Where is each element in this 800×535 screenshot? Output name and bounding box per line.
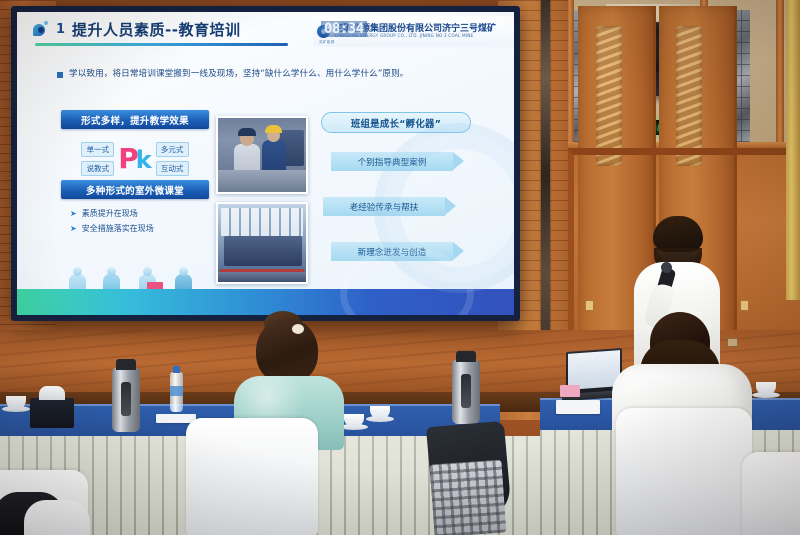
band-bottom-label: 多种形式的室外微课堂 bbox=[61, 180, 209, 199]
chevron-right-icon: ➤ bbox=[70, 209, 77, 218]
thermos-flask[interactable] bbox=[452, 360, 480, 424]
chevron-right-icon: ➤ bbox=[70, 224, 77, 233]
right-column-heading: 班组是成长“孵化器” bbox=[321, 112, 471, 133]
wall-frame-right bbox=[776, 0, 784, 150]
pk-chip-left-1: 单一式 bbox=[81, 142, 114, 157]
attendee-head bbox=[256, 318, 318, 384]
company-sub-cn: 兖矿能源 bbox=[319, 40, 335, 45]
projection-screen: 1 提升人员素质--教育培训 兖矿能源集团股份有限公司济宁三号煤矿 YANKUA… bbox=[11, 6, 520, 321]
slide-left-column: 形式多样，提升教学效果 单一式 说教式 P k 多元式 互动式 多种 bbox=[61, 110, 209, 238]
pk-letter-k: k bbox=[136, 148, 152, 172]
pk-chip-right-2: 互动式 bbox=[156, 161, 189, 176]
chair-back[interactable] bbox=[742, 452, 800, 535]
tissue-box[interactable] bbox=[30, 398, 74, 428]
chair-back[interactable] bbox=[186, 418, 318, 535]
camera-timestamp: 08:34 bbox=[321, 21, 367, 37]
slide-right-column: 班组是成长“孵化器” 个别指导典型案例 老经验传承与帮扶 新理念迸发与创造 bbox=[321, 112, 471, 261]
door-carving-right bbox=[676, 26, 702, 166]
photo-equipment-room bbox=[216, 202, 308, 284]
water-bottle[interactable] bbox=[170, 372, 183, 412]
pk-chip-right-1: 多元式 bbox=[156, 142, 189, 157]
pk-comparison-graphic: 单一式 说教式 P k 多元式 互动式 bbox=[61, 138, 209, 180]
title-underline bbox=[35, 43, 288, 46]
door-carving-left bbox=[596, 26, 622, 166]
square-bullet-icon bbox=[57, 72, 63, 78]
microphone-head-icon bbox=[661, 262, 672, 273]
slide-bullet: 学以致用，将日常培训课堂搬到一线及现场，坚持“缺什么学什么、用什么学什么”原则。 bbox=[57, 69, 490, 81]
pk-right-chips: 多元式 互动式 bbox=[156, 142, 189, 176]
paper-document[interactable] bbox=[556, 400, 600, 414]
bullet-text: 学以致用，将日常培训课堂搬到一线及现场，坚持“缺什么学什么、用什么学什么”原则。 bbox=[69, 69, 408, 81]
band-top-label: 形式多样，提升教学效果 bbox=[61, 110, 209, 129]
plaid-bag[interactable] bbox=[430, 460, 507, 535]
conference-room-scene: 安全出口 1 提升人员素质--教育培训 bbox=[0, 0, 800, 535]
ribbon-item-1: 个别指导典型案例 bbox=[331, 152, 453, 171]
company-droplet-logo-icon bbox=[33, 21, 49, 37]
ribbon-item-2: 老经验传承与帮扶 bbox=[323, 197, 445, 216]
pk-chip-left-2: 说教式 bbox=[81, 161, 114, 176]
chair-back[interactable] bbox=[616, 408, 752, 535]
list-item: ➤ 安全措施落实在现场 bbox=[70, 223, 209, 234]
slide-footer-bar bbox=[17, 289, 514, 315]
presentation-slide: 1 提升人员素质--教育培训 兖矿能源集团股份有限公司济宁三号煤矿 YANKUA… bbox=[17, 12, 514, 315]
thermos-flask[interactable] bbox=[112, 368, 140, 432]
ribbon-item-3: 新理念迸发与创造 bbox=[331, 242, 453, 261]
sub-item-list: ➤ 素质提升在现场 ➤ 安全措施落实在现场 bbox=[61, 208, 209, 234]
paper-document[interactable] bbox=[560, 385, 580, 397]
pk-left-chips: 单一式 说教式 bbox=[81, 142, 114, 176]
photo-workshop-training bbox=[216, 116, 308, 194]
sub-item-label: 素质提升在现场 bbox=[82, 208, 138, 219]
gold-wall-strip bbox=[786, 0, 800, 300]
slide-number: 1 bbox=[56, 22, 65, 37]
corporate-banner: 兖矿能源集团股份有限公司济宁三号煤矿 YANKUANG ENERGY GROUP… bbox=[313, 16, 514, 47]
slide-title: 提升人员素质--教育培训 bbox=[72, 19, 240, 40]
hair-pin-icon bbox=[292, 324, 304, 334]
presenter-hair bbox=[653, 216, 703, 252]
sub-item-label: 安全措施落实在现场 bbox=[82, 223, 154, 234]
list-item: ➤ 素质提升在现场 bbox=[70, 208, 209, 219]
pk-letters: P k bbox=[118, 145, 152, 173]
foreground-chair-white bbox=[24, 500, 90, 535]
